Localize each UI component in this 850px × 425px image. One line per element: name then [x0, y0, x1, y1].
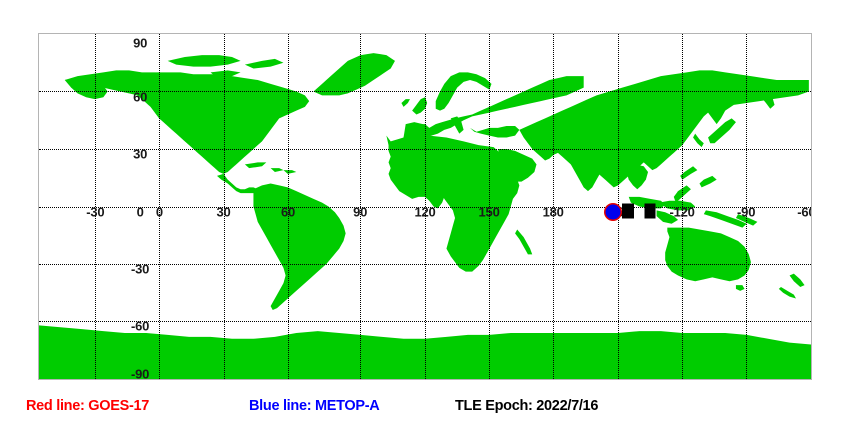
lon-tick-label: -120: [669, 205, 694, 218]
lon-tick-label: 90: [353, 205, 367, 218]
lon-tick-label: 60: [281, 205, 295, 218]
lon-tick-label: 180: [543, 205, 564, 218]
lat-tick-label: -30: [131, 262, 149, 275]
satellite-marker-block-2[interactable]: [644, 203, 655, 218]
lon-tick-label: -60: [797, 205, 812, 218]
lon-tick-label: 150: [479, 205, 500, 218]
satellite-marker-metop-a[interactable]: [605, 204, 620, 219]
lat-tick-label: 0: [137, 205, 144, 218]
lat-tick-label: 60: [133, 90, 147, 103]
lon-tick-label: 30: [216, 205, 230, 218]
lat-tick-label: 30: [133, 148, 147, 161]
lat-tick-label: -60: [131, 320, 149, 333]
satellite-map-figure: -30 0 30 60 90 120 150 180 -150 -120 -90…: [0, 0, 850, 425]
lon-tick-label: 0: [156, 205, 163, 218]
lon-tick-label: -90: [737, 205, 755, 218]
map-plot-area[interactable]: -30 0 30 60 90 120 150 180 -150 -120 -90…: [38, 33, 812, 380]
lon-tick-label: 120: [414, 205, 435, 218]
legend-red-line-goes17: Red line: GOES-17: [26, 396, 149, 416]
satellite-marker-block-1[interactable]: [622, 203, 634, 218]
lat-tick-label: -90: [131, 367, 149, 380]
lon-tick-label: -30: [86, 205, 104, 218]
lat-tick-label: 90: [133, 36, 147, 49]
map-legend: Red line: GOES-17 Blue line: METOP-A TLE…: [0, 396, 850, 420]
legend-blue-line-metopa: Blue line: METOP-A: [249, 396, 379, 416]
legend-tle-epoch: TLE Epoch: 2022/7/16: [455, 396, 598, 416]
